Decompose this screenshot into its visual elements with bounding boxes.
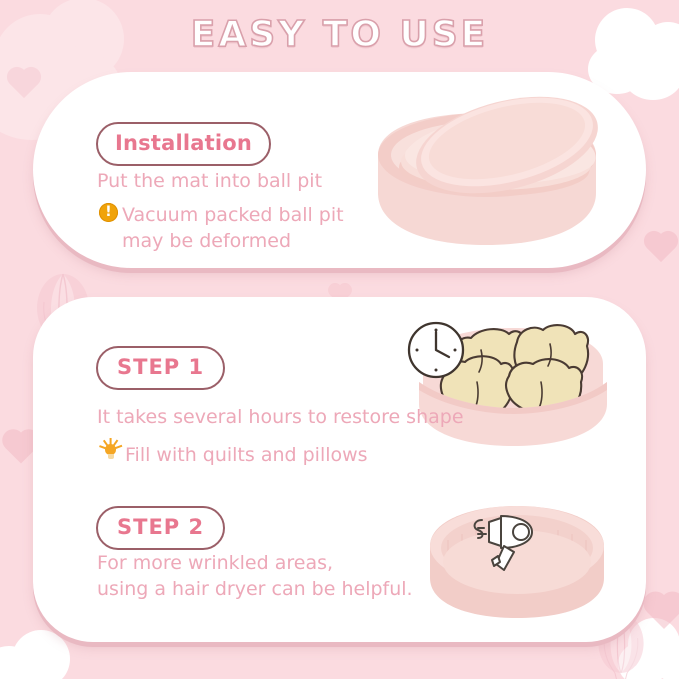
step-1-line-1: It takes several hours to restore shape [97,404,464,430]
heart-icon [5,432,36,463]
page-title: EASY TO USE [0,14,679,55]
ball-pit-empty-with-dryer-illustration [422,496,612,624]
infographic-canvas: EASY TO USE Installation Put the mat int… [0,0,679,679]
heart-icon [10,70,38,98]
badge-installation: Installation [96,122,271,166]
installation-line-1: Put the mat into ball pit [97,168,322,194]
step-1-line-2: Fill with quilts and pillows [125,442,368,468]
cloud-icon [12,630,70,679]
badge-step-2: STEP 2 [96,506,225,550]
cloud-icon [0,646,36,679]
warning-icon: ! [99,203,118,222]
cloud-icon [652,636,679,679]
lightbulb-icon [98,439,122,463]
cloud-icon [618,642,668,679]
installation-line-2: Vacuum packed ball pit may be deformed [122,202,382,254]
heart-icon [647,234,675,262]
heart-icon [647,595,679,629]
badge-step-1: STEP 1 [96,346,225,390]
cloud-icon [628,618,679,670]
step-2-line-1: For more wrinkled areas, using a hair dr… [97,550,413,602]
ball-pit-with-mat-illustration [360,85,615,260]
